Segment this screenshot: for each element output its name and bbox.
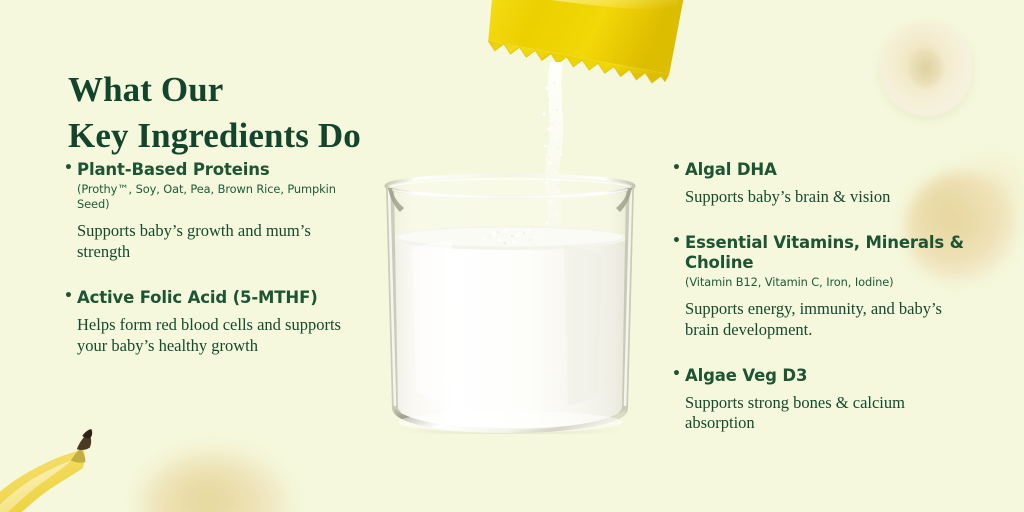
left-ingredient-list: Plant-Based Proteins (Prothy™, Soy, Oat,… — [64, 160, 364, 357]
ingredient-subtitle: (Vitamin B12, Vitamin C, Iron, Iodine) — [672, 275, 972, 290]
headline-line-1: What Our — [68, 67, 488, 113]
ingredient-title: Essential Vitamins, Minerals & Choline — [672, 233, 972, 273]
banana-slice-image — [880, 22, 972, 116]
ingredient-title: Algal DHA — [672, 160, 972, 180]
ingredient-plant-based-proteins: Plant-Based Proteins (Prothy™, Soy, Oat,… — [64, 160, 364, 262]
right-ingredient-list: Algal DHA Supports baby’s brain & vision… — [672, 160, 972, 434]
ingredient-description: Supports energy, immunity, and baby’s br… — [672, 299, 972, 341]
ingredient-title: Algae Veg D3 — [672, 366, 972, 386]
sachet-image — [459, 0, 711, 121]
ingredient-title: Plant-Based Proteins — [64, 160, 364, 180]
ingredient-description: Supports baby’s brain & vision — [672, 187, 972, 208]
ingredient-algae-veg-d3: Algae Veg D3 Supports strong bones & cal… — [672, 366, 972, 435]
glass-of-milk-image — [378, 172, 642, 434]
ingredient-active-folic-acid: Active Folic Acid (5-MTHF) Helps form re… — [64, 288, 364, 357]
ingredient-subtitle: (Prothy™, Soy, Oat, Pea, Brown Rice, Pum… — [64, 182, 364, 212]
ingredient-description: Supports baby’s growth and mum’s strengt… — [64, 221, 364, 263]
page-title: What Our Key Ingredients Do — [68, 67, 488, 158]
ingredient-title: Active Folic Acid (5-MTHF) — [64, 288, 364, 308]
ingredient-essential-vitamins-minerals-choline: Essential Vitamins, Minerals & Choline (… — [672, 233, 972, 341]
ingredients-infographic: What Our Key Ingredients Do Plant-Based … — [0, 0, 1024, 512]
ingredient-algal-dha: Algal DHA Supports baby’s brain & vision — [672, 160, 972, 208]
ingredient-description: Supports strong bones & calcium absorpti… — [672, 393, 972, 435]
banana-image — [0, 403, 180, 512]
headline-line-2: Key Ingredients Do — [68, 113, 488, 159]
ingredient-description: Helps form red blood cells and supports … — [64, 315, 364, 357]
